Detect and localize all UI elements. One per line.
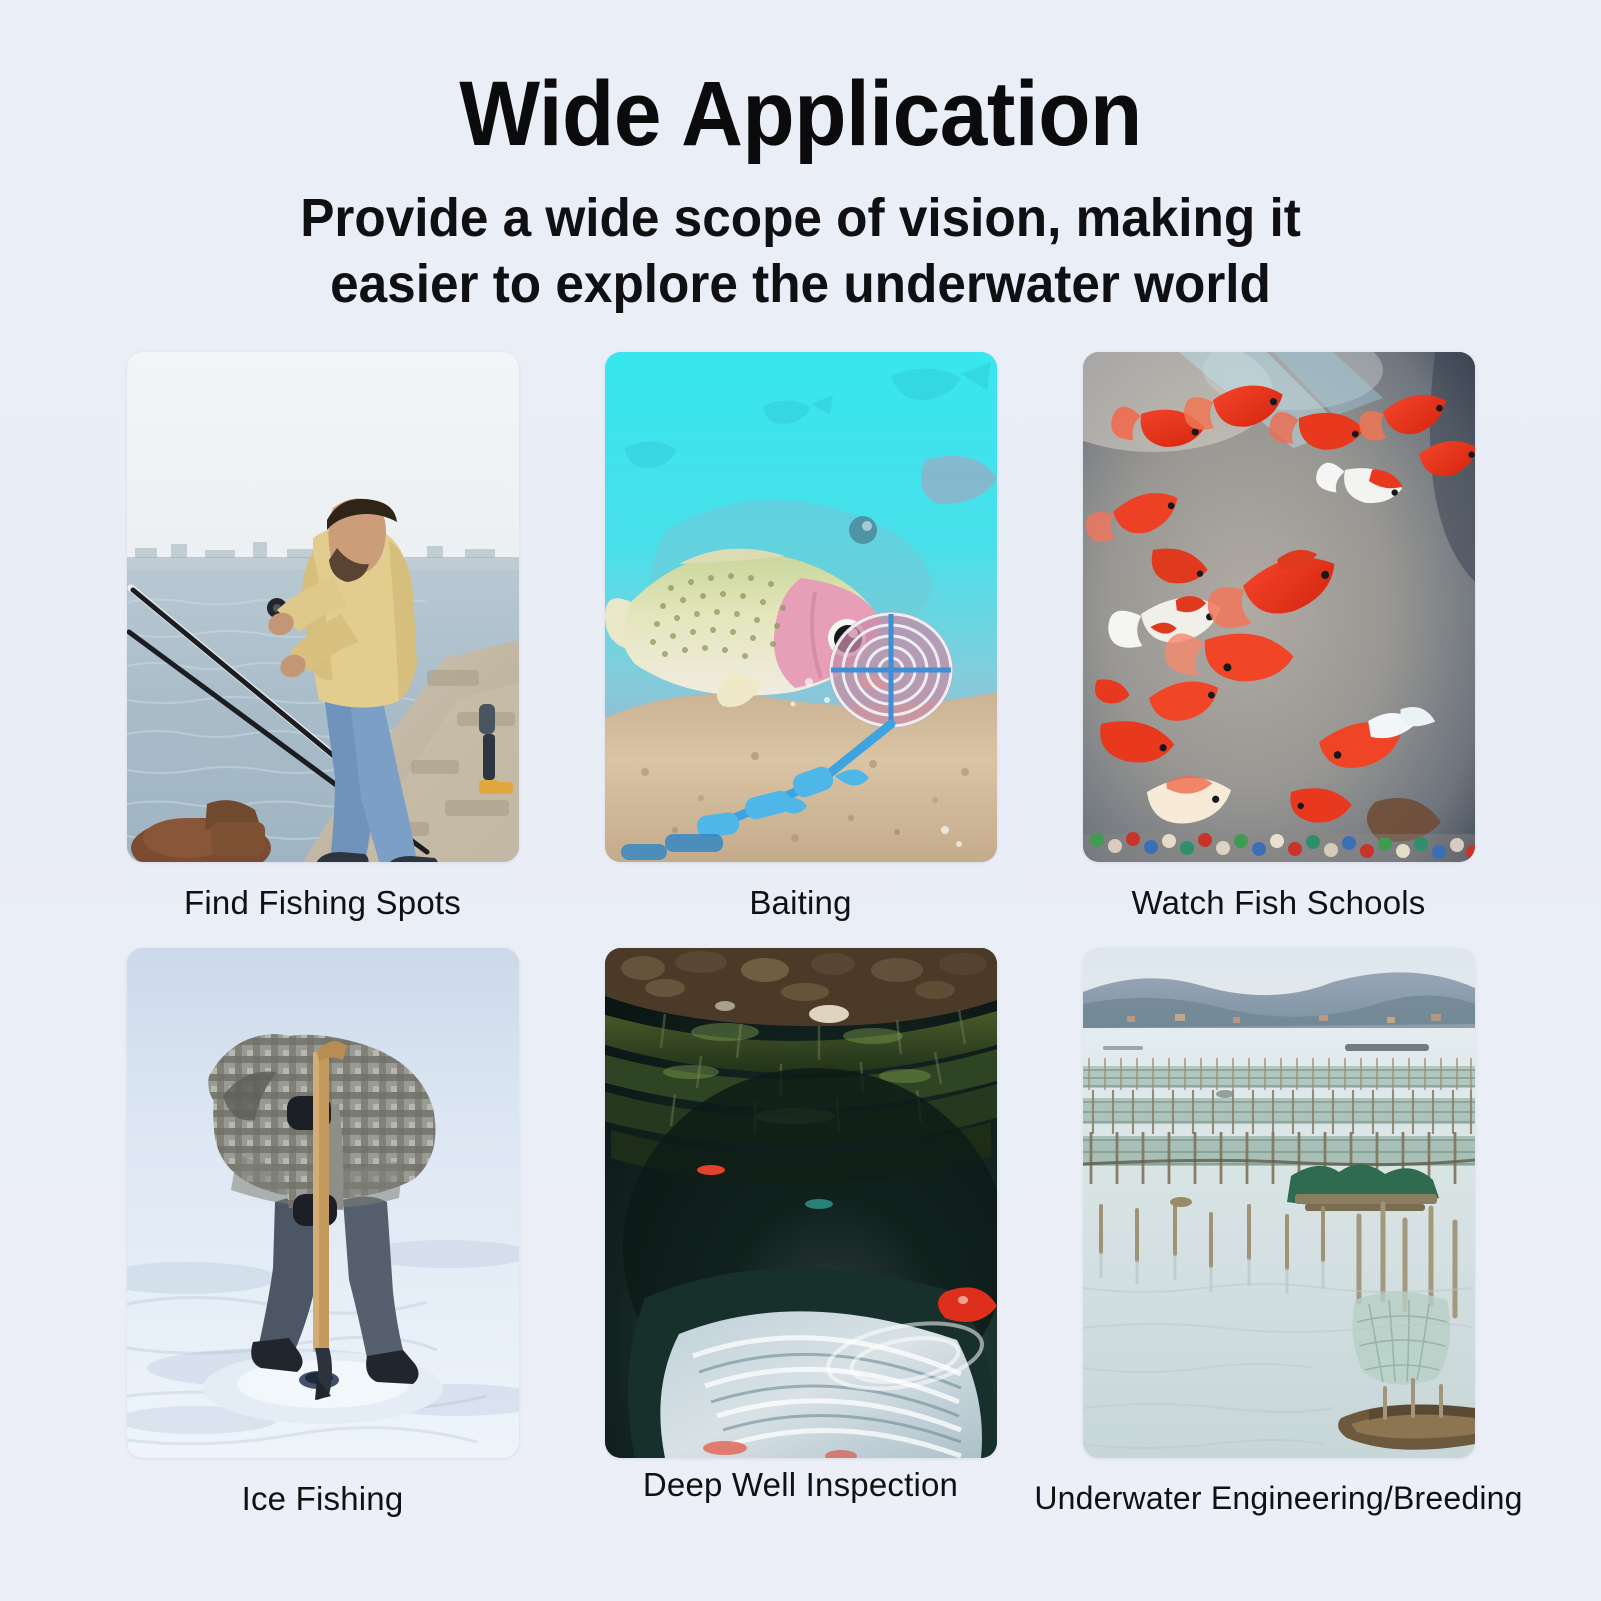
card-caption: Deep Well Inspection xyxy=(643,1466,958,1504)
application-card-ice-fishing[interactable]: Ice Fishing xyxy=(127,948,519,1518)
gallery-row: Find Fishing Spots xyxy=(0,352,1601,922)
photo-underwater-fish-at-bait-cage xyxy=(605,352,997,862)
application-card-deep-well-inspection[interactable]: Deep Well Inspection xyxy=(605,948,997,1518)
page-subtitle: Provide a wide scope of vision, making i… xyxy=(40,160,1561,318)
application-card-underwater-engineering-breeding[interactable]: Underwater Engineering/Breeding xyxy=(1083,948,1475,1518)
card-caption: Watch Fish Schools xyxy=(1132,884,1426,922)
subtitle-line-2: easier to explore the underwater world xyxy=(40,252,1561,318)
photo-angler-on-stone-pier xyxy=(127,352,519,862)
wide-application-poster: Wide Application Provide a wide scope of… xyxy=(0,0,1601,1601)
poster-header: Wide Application Provide a wide scope of… xyxy=(0,0,1601,318)
application-card-watch-fish-schools[interactable]: Watch Fish Schools xyxy=(1083,352,1475,922)
application-gallery: Find Fishing Spots xyxy=(0,352,1601,1518)
card-caption: Underwater Engineering/Breeding xyxy=(1034,1480,1522,1517)
subtitle-line-1: Provide a wide scope of vision, making i… xyxy=(40,186,1561,252)
photo-stone-well-water-surface xyxy=(605,948,997,1458)
page-title: Wide Application xyxy=(56,0,1545,160)
photo-aquaculture-net-farm xyxy=(1083,948,1475,1458)
card-caption: Find Fishing Spots xyxy=(184,884,461,922)
photo-person-drilling-ice-hole xyxy=(127,948,519,1458)
application-card-find-fishing-spots[interactable]: Find Fishing Spots xyxy=(127,352,519,922)
gallery-row: Ice Fishing xyxy=(0,948,1601,1518)
photo-goldfish-school-in-tank xyxy=(1083,352,1475,862)
card-caption: Ice Fishing xyxy=(242,1480,404,1518)
application-card-baiting[interactable]: Baiting xyxy=(605,352,997,922)
card-caption: Baiting xyxy=(749,884,851,922)
